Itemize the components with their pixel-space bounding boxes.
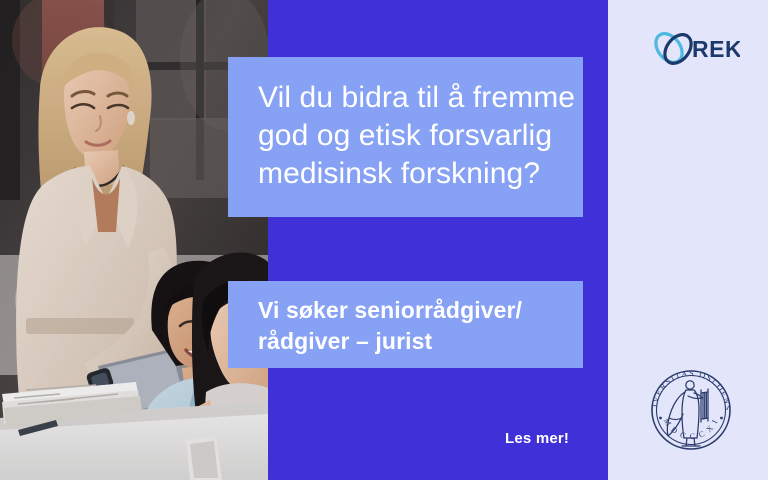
job-title-box: Vi søker seniorrådgiver/ rådgiver – juri… — [228, 281, 583, 368]
seal-top-text: UNIVERSITAS OSLOENSIS — [643, 362, 732, 412]
headline-line-2: god og etisk forsvarlig — [258, 117, 557, 155]
headline-line-1: Vil du bidra til å fremme — [258, 79, 557, 117]
read-more-link[interactable]: Les mer! — [505, 430, 569, 447]
interlocking-ellipses-icon — [650, 29, 696, 69]
job-title-line-1: Vi søker seniorrådgiver/ — [258, 295, 565, 326]
job-title-line-2: rådgiver – jurist — [258, 326, 565, 357]
recruitment-banner: Vil du bidra til å fremme god og etisk f… — [0, 0, 768, 480]
headline-box: Vil du bidra til å fremme god og etisk f… — [228, 57, 583, 217]
rek-logo[interactable]: REK — [648, 27, 740, 69]
headline-line-3: medisinsk forskning? — [258, 155, 557, 193]
rek-wordmark: REK — [692, 36, 740, 62]
uio-seal: UNIVERSITAS OSLOENSIS M D C C C X I — [643, 362, 739, 458]
